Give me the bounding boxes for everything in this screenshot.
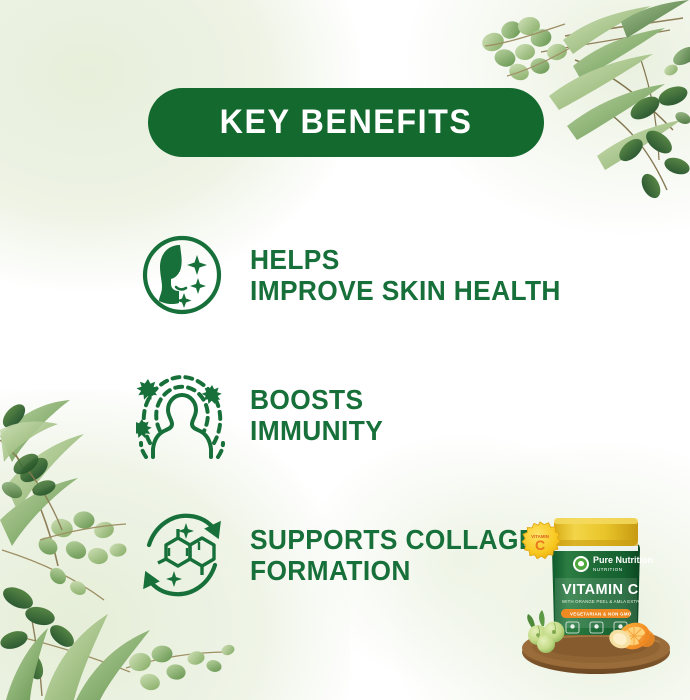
page-title: KEY BENEFITS [220,103,473,142]
benefit-label-immunity: BOOSTS IMMUNITY [250,384,383,447]
benefit-label-skin-health: HELPS IMPROVE SKIN HEALTH [250,244,561,307]
product-jar: Pure Nutrition NUTRITION VITAMIN C WITH … [508,502,684,692]
face-sparkle-icon [132,233,232,317]
svg-text:NUTRITION: NUTRITION [593,567,623,572]
key-benefits-banner: KEY BENEFITS [148,88,544,157]
product-label-title: VITAMIN C [562,582,639,598]
brand-name: Pure Nutrition [593,555,653,565]
benefit-item-immunity: BOOSTS IMMUNITY [132,345,602,485]
product-label-strip: VEGETARIAN & NON GMO [570,612,632,617]
molecule-recycle-icon [132,509,232,601]
leaf-sprig-decoration [0,420,120,570]
badge-letter: C [535,537,545,553]
key-benefits-poster: KEY BENEFITS HELPS IMPROVE SKIN HEALTH [0,0,690,700]
benefit-item-skin-health: HELPS IMPROVE SKIN HEALTH [132,205,602,345]
product-label-subtitle: WITH ORANGE PEEL & AMLA EXTRACT [562,599,649,604]
person-shield-virus-icon [132,371,232,459]
